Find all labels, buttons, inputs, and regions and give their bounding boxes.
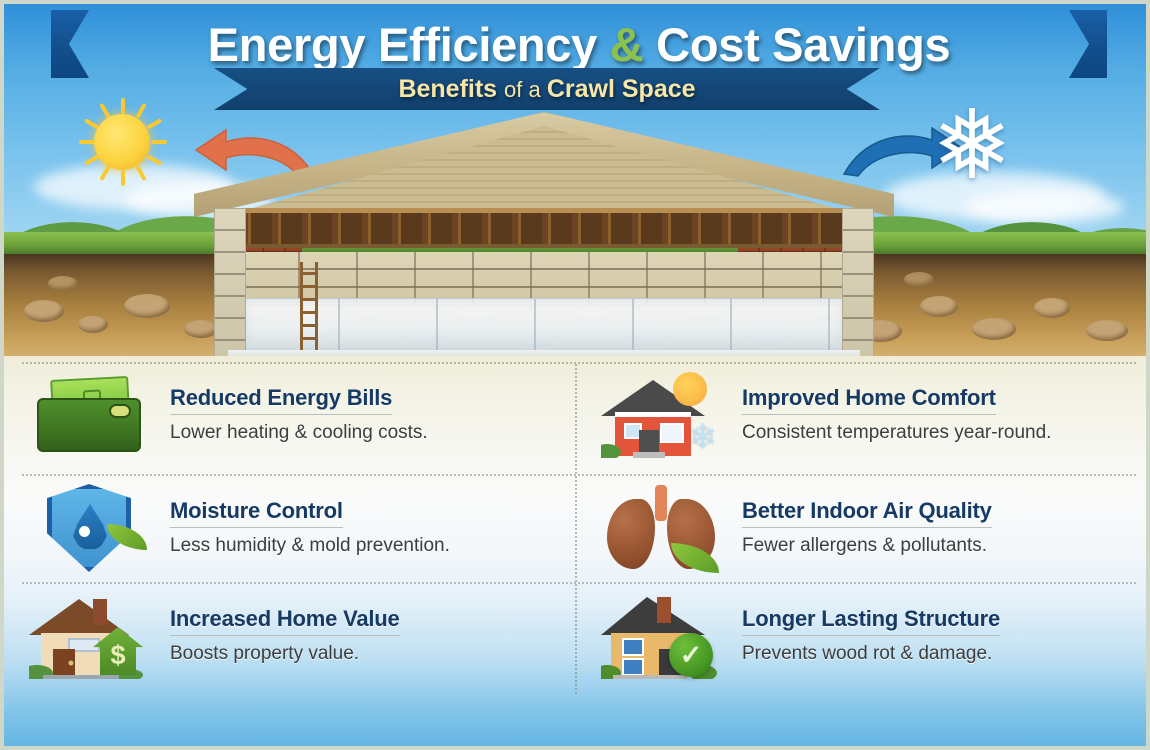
house-checkmark-icon: ✓ — [586, 590, 736, 682]
subtitle-text-b: Crawl Space — [547, 75, 696, 103]
lungs-leaf-icon — [586, 482, 736, 574]
title-text-primary: Energy Efficiency — [208, 18, 610, 71]
benefits-panel: Reduced Energy Bills Lower heating & coo… — [4, 356, 1150, 750]
shield-water-droplet-leaf-icon — [14, 482, 164, 574]
vapor-barrier — [242, 298, 846, 354]
benefit-heading: Better Indoor Air Quality — [742, 498, 992, 528]
benefit-description: Less humidity & mold prevention. — [170, 534, 450, 557]
benefit-heading: Reduced Energy Bills — [170, 385, 392, 415]
benefit-heading: Longer Lasting Structure — [742, 606, 1000, 636]
benefit-heading: Moisture Control — [170, 498, 343, 528]
benefits-grid: Reduced Energy Bills Lower heating & coo… — [4, 356, 1150, 750]
subtitle-text-a: Benefits — [398, 75, 504, 103]
crawl-space-ladder — [300, 262, 318, 350]
benefit-description: Boosts property value. — [170, 642, 400, 665]
checkmark-badge: ✓ — [669, 633, 713, 677]
sun-icon — [76, 96, 168, 188]
benefit-item-reduced-energy-bills[interactable]: Reduced Energy Bills Lower heating & coo… — [4, 356, 576, 474]
benefit-item-longer-lasting-structure[interactable]: ✓ Longer Lasting Structure Prevents wood… — [576, 582, 1150, 690]
subtitle-banner-content: Benefits of a Crawl Space — [214, 68, 880, 110]
benefit-item-better-indoor-air-quality[interactable]: Better Indoor Air Quality Fewer allergen… — [576, 474, 1150, 582]
infographic-canvas: ❅ Energy Efficiency & Cost Savings Benef… — [0, 0, 1150, 750]
wallet-money-icon — [14, 369, 164, 461]
title-ampersand: & — [610, 18, 644, 71]
page-title: Energy Efficiency & Cost Savings — [208, 17, 951, 72]
benefit-item-moisture-control[interactable]: Moisture Control Less humidity & mold pr… — [4, 474, 576, 582]
floor-joists — [242, 208, 846, 248]
benefit-description: Lower heating & cooling costs. — [170, 421, 428, 444]
mini-snowflake-icon: ❄ — [689, 420, 718, 454]
subtitle-text-of: of a — [504, 77, 547, 102]
mini-sun-icon — [673, 372, 707, 406]
snowflake-icon: ❅ — [924, 100, 1020, 196]
benefit-item-improved-home-comfort[interactable]: ❄ Improved Home Comfort Consistent tempe… — [576, 356, 1150, 474]
title-text-secondary: Cost Savings — [643, 18, 950, 71]
benefit-heading: Increased Home Value — [170, 606, 400, 636]
benefit-description: Prevents wood rot & damage. — [742, 642, 1000, 665]
page-subtitle: Benefits of a Crawl Space — [398, 75, 695, 104]
house-dollar-icon: $ — [14, 590, 164, 682]
benefit-heading: Improved Home Comfort — [742, 385, 996, 415]
crawl-space-cutaway-illustration — [194, 112, 894, 337]
house-sun-snowflake-icon: ❄ — [586, 369, 736, 461]
benefit-item-increased-home-value[interactable]: $ Increased Home Value Boosts property v… — [4, 582, 576, 690]
benefit-description: Consistent temperatures year-round. — [742, 421, 1051, 444]
benefit-description: Fewer allergens & pollutants. — [742, 534, 992, 557]
